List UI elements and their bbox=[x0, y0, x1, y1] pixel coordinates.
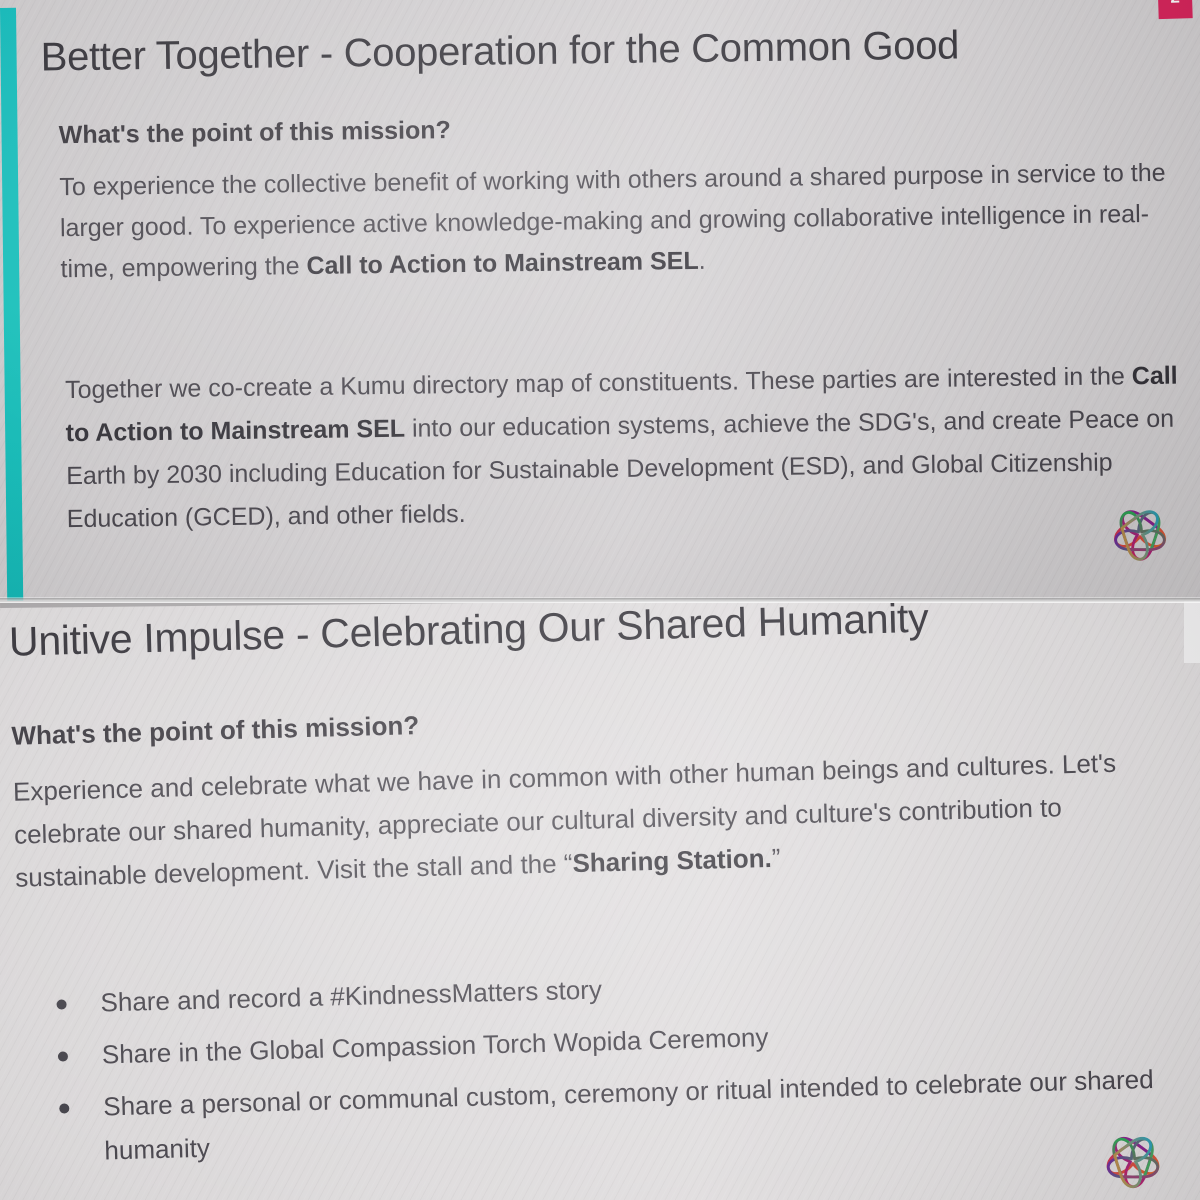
paragraph-text-run: Experience and celebrate what we have in… bbox=[13, 748, 1117, 893]
slide-2-title: Unitive Impulse - Celebrating Our Shared… bbox=[8, 601, 1189, 666]
paragraph-text-run: Together we co-create a Kumu directory m… bbox=[65, 362, 1132, 404]
slide-1-title: Better Together - Cooperation for the Co… bbox=[40, 21, 1175, 81]
list-item-label: Share a personal or communal custom, cer… bbox=[103, 1064, 1154, 1165]
slide-1-question-heading: What's the point of this mission? bbox=[59, 116, 451, 150]
paragraph-bold-run: Sharing Station. bbox=[572, 843, 772, 878]
photo-seam-divider bbox=[0, 598, 1200, 603]
paragraph-bold-run: Call to Action to Mainstream SEL bbox=[306, 247, 699, 280]
slide-2-photo: 3 Unitive Impulse - Celebrating Our Shar… bbox=[0, 601, 1200, 1200]
slide-1-photo: 2 Better Together - Cooperation for the … bbox=[0, 0, 1200, 601]
slide-1-paragraph-2: Together we co-create a Kumu directory m… bbox=[65, 355, 1187, 542]
slide-photo-collage: 2 Better Together - Cooperation for the … bbox=[0, 0, 1200, 1200]
badge-number-text: 2 bbox=[1170, 0, 1180, 8]
paragraph-text-run-end: . bbox=[698, 247, 705, 275]
list-item-label: Share in the Global Compassion Torch Wop… bbox=[102, 1022, 769, 1069]
list-item-label: Share and record a #KindnessMatters stor… bbox=[100, 974, 602, 1017]
slide-2-paragraph: Experience and celebrate what we have in… bbox=[12, 740, 1190, 900]
slide-2-bullet-list: Share and record a #KindnessMatters stor… bbox=[44, 953, 1169, 1182]
list-item: Share a personal or communal custom, cer… bbox=[47, 1057, 1169, 1174]
slide-1-page-number-badge: 2 bbox=[1157, 0, 1192, 19]
slide-2-question-heading: What's the point of this mission? bbox=[11, 710, 419, 752]
slide-1-paragraph-1: To experience the collective benefit of … bbox=[59, 153, 1186, 291]
paragraph-text-run-end: ” bbox=[771, 843, 780, 873]
